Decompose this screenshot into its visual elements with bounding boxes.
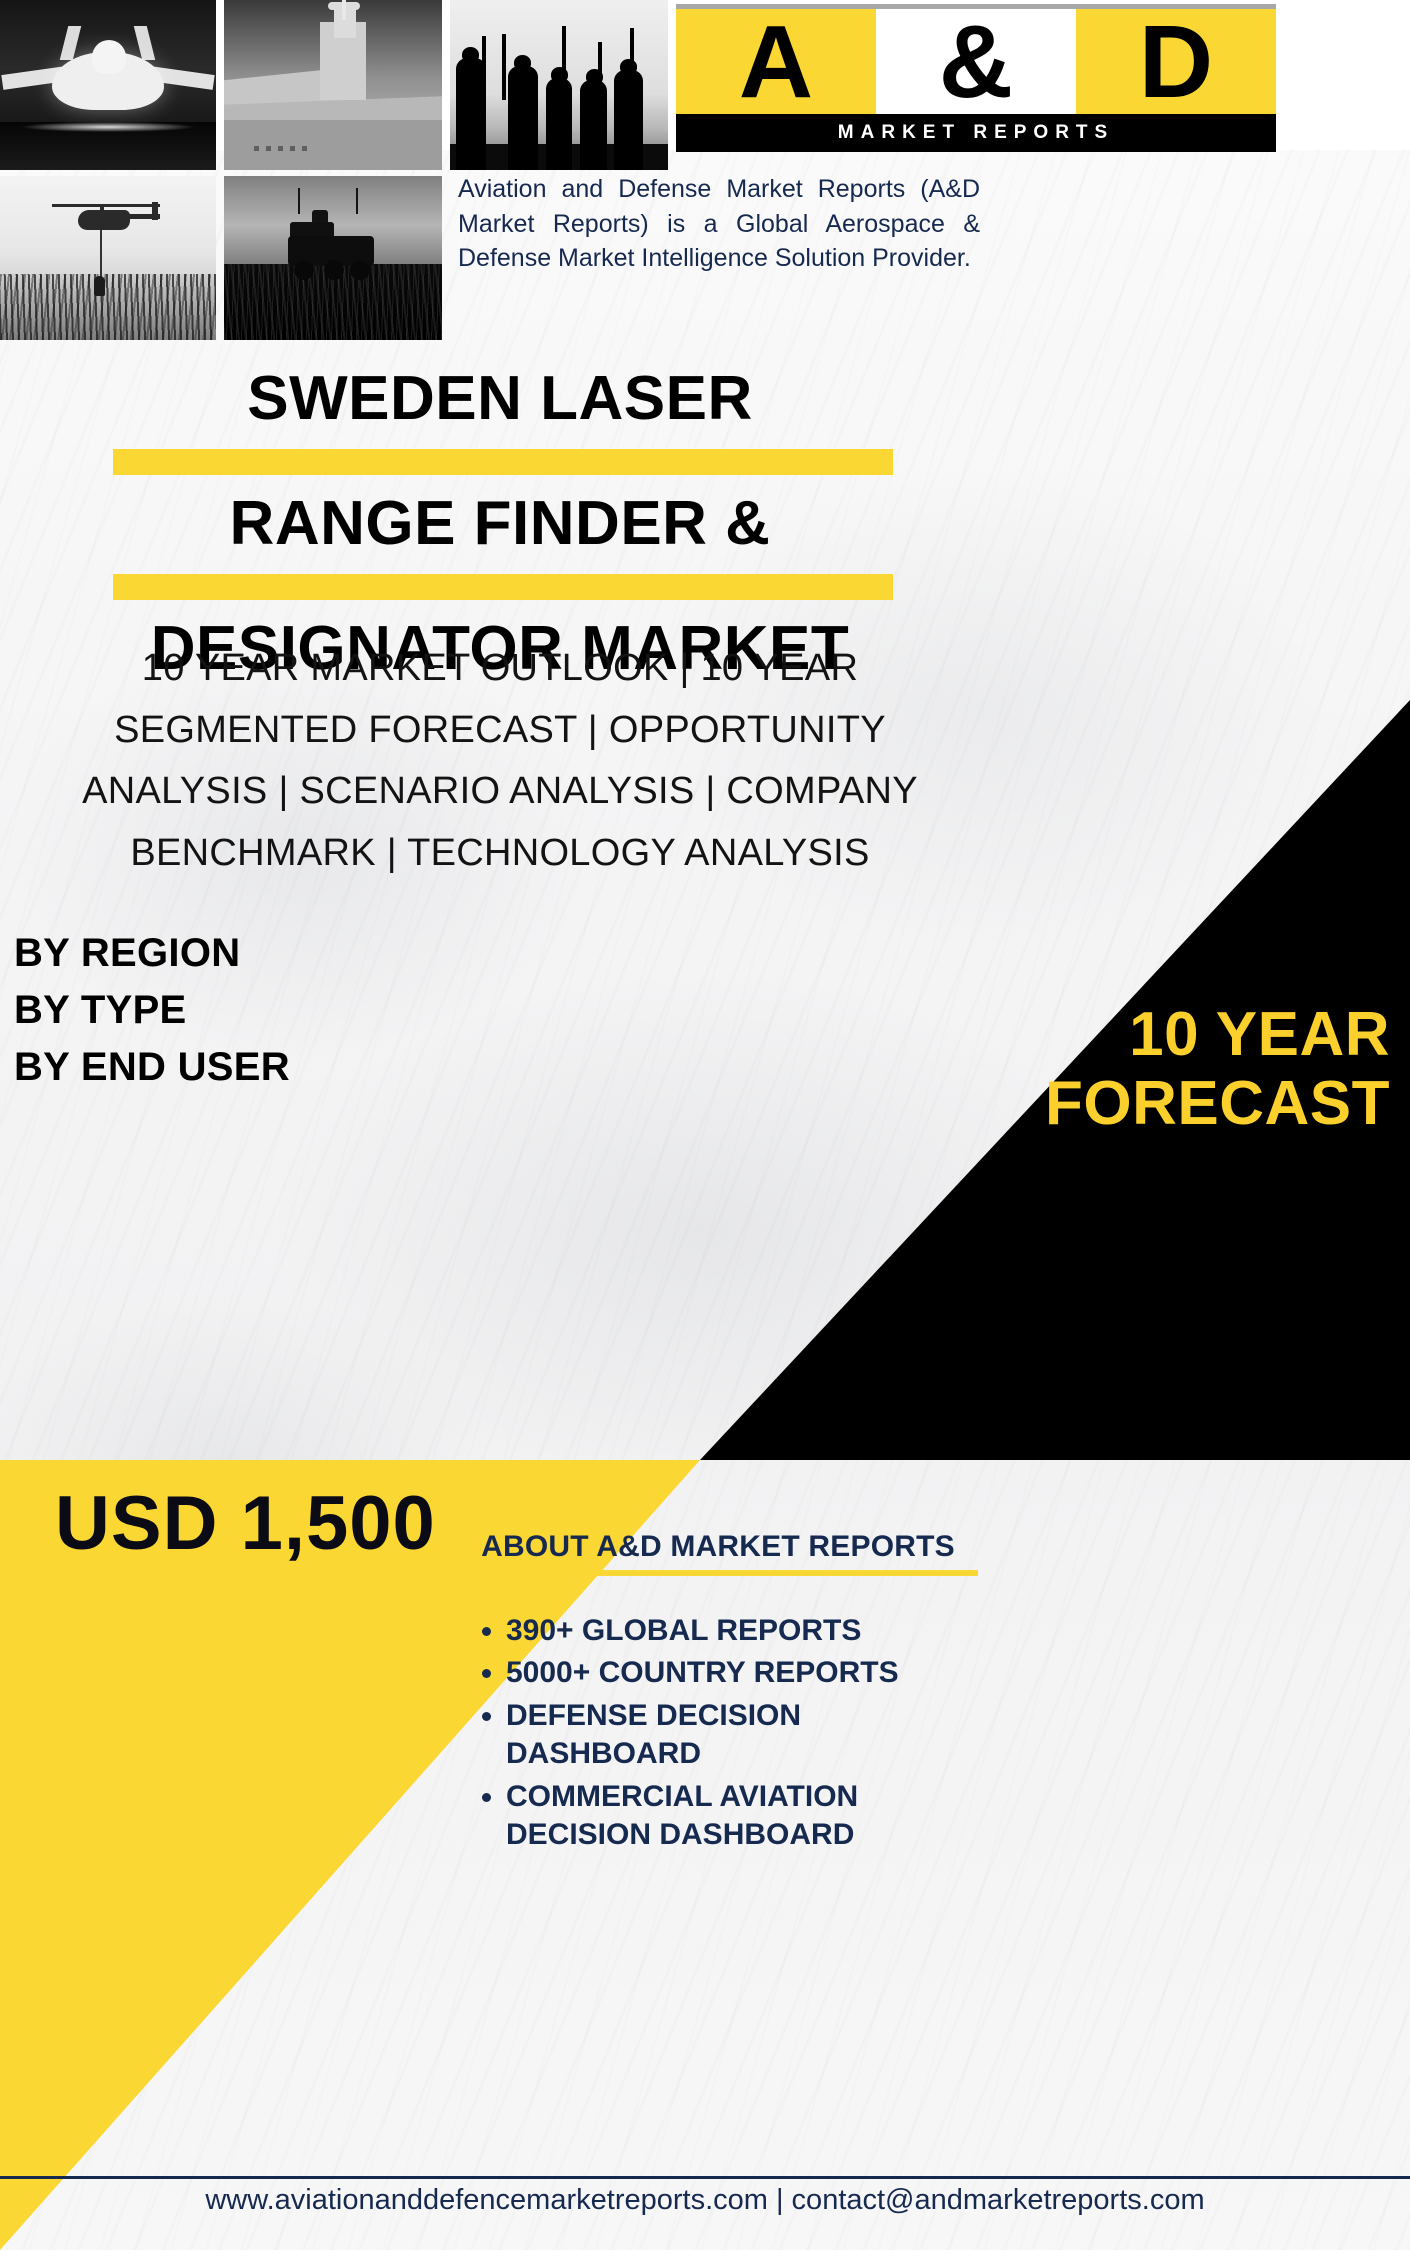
about-bullet-country-reports: 5000+ COUNTRY REPORTS — [506, 1654, 978, 1692]
title-accent-bar-2 — [113, 574, 893, 600]
report-scope-subtitle: 10 YEAR MARKET OUTLOOK | 10 YEAR SEGMENT… — [20, 638, 980, 884]
segmentation-item-region: BY REGION — [14, 925, 574, 982]
title-accent-bar-1 — [113, 449, 893, 475]
forecast-badge-line-2: FORECAST — [620, 1069, 1390, 1138]
logo-letter-d: D — [1076, 9, 1276, 114]
soldiers-silhouette-photo — [450, 0, 668, 170]
logo-letter-cells: A & D — [676, 9, 1276, 114]
company-intro-paragraph: Aviation and Defense Market Reports (A&D… — [458, 172, 980, 276]
about-bullet-defense-dashboard: DEFENSE DECISION DASHBOARD — [506, 1697, 978, 1774]
about-bullet-global-reports: 390+ GLOBAL REPORTS — [506, 1612, 978, 1650]
logo-band: MARKET REPORTS — [676, 114, 1276, 152]
price-label: USD 1,500 — [55, 1480, 436, 1567]
about-bullet-commercial-aviation-dashboard: COMMERCIAL AVIATION DECISION DASHBOARD — [506, 1778, 978, 1855]
about-section: ABOUT A&D MARKET REPORTS 390+ GLOBAL REP… — [458, 1530, 978, 1858]
logo-band-text: MARKET REPORTS — [838, 122, 1114, 144]
logo-letter-a: A — [676, 9, 876, 114]
footer-divider — [0, 2176, 1410, 2179]
helicopter-photo — [0, 176, 216, 340]
about-heading: ABOUT A&D MARKET REPORTS — [458, 1530, 978, 1564]
aircraft-carrier-photo — [224, 0, 442, 170]
footer-contact[interactable]: www.aviationanddefencemarketreports.com … — [0, 2184, 1410, 2217]
forecast-badge: 10 YEAR FORECAST — [620, 1000, 1390, 1139]
segmentation-item-end-user: BY END USER — [14, 1039, 574, 1096]
segmentation-list: BY REGION BY TYPE BY END USER — [14, 925, 574, 1095]
about-heading-underline — [458, 1570, 978, 1576]
ad-market-reports-logo: A & D MARKET REPORTS — [676, 0, 1276, 152]
segmentation-item-type: BY TYPE — [14, 982, 574, 1039]
fighter-jet-photo — [0, 0, 216, 170]
forecast-badge-line-1: 10 YEAR — [620, 1000, 1390, 1069]
logo-letter-ampersand: & — [876, 9, 1076, 114]
armored-vehicle-photo — [224, 176, 442, 340]
about-bullet-list: 390+ GLOBAL REPORTS 5000+ COUNTRY REPORT… — [458, 1612, 978, 1854]
report-title-line-2: RANGE FINDER & — [0, 483, 1000, 566]
report-title-line-1: SWEDEN LASER — [0, 358, 1000, 441]
